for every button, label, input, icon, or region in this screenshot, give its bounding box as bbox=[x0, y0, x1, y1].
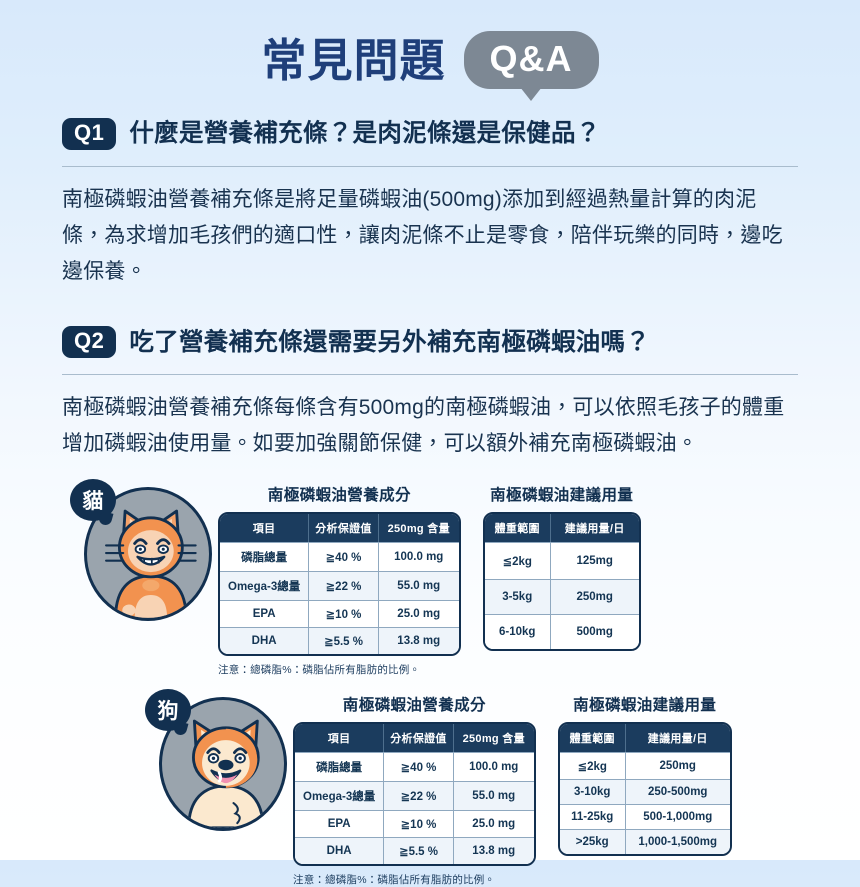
cell-spec: ≧22 % bbox=[384, 781, 454, 810]
faq-item-q2: Q2 吃了營養補充條還需要另外補充南極磷蝦油嗎？ 南極磷蝦油營養補充條每條含有5… bbox=[62, 326, 798, 462]
column-header: 體重範圍 bbox=[485, 514, 551, 542]
column-header: 項目 bbox=[220, 514, 309, 542]
dog-nutrition-table: 項目 分析保證值 250mg 含量 磷脂總量 ≧40 % 100.0 mg Om… bbox=[293, 722, 536, 866]
cell-amount: 13.8 mg bbox=[454, 837, 534, 864]
cell-item: DHA bbox=[295, 837, 384, 864]
question-number-badge: Q2 bbox=[62, 326, 116, 358]
cell-spec: ≧40 % bbox=[384, 752, 454, 781]
cell-amount: 55.0 mg bbox=[454, 781, 534, 810]
page-header: 常見問題 Q&A bbox=[0, 0, 860, 96]
cat-dosage-title: 南極磷蝦油建議用量 bbox=[483, 483, 641, 505]
table-row: 11-25kg 500-1,000mg bbox=[560, 804, 730, 829]
question-divider bbox=[62, 166, 798, 167]
cell-weight: >25kg bbox=[560, 829, 626, 854]
table-header-row: 項目 分析保證值 250mg 含量 bbox=[220, 514, 459, 542]
cell-dose: 250-500mg bbox=[626, 779, 730, 804]
question-text: 什麼是營養補充條？是肉泥條還是保健品？ bbox=[129, 119, 600, 148]
table-header-row: 體重範圍 建議用量/日 bbox=[560, 724, 730, 752]
table-row: EPA ≧10 % 25.0 mg bbox=[220, 600, 459, 627]
column-header: 項目 bbox=[295, 724, 384, 752]
column-header: 建議用量/日 bbox=[626, 724, 730, 752]
cell-amount: 100.0 mg bbox=[454, 752, 534, 781]
dog-nutrition-title: 南極磷蝦油營養成分 bbox=[293, 693, 536, 715]
cell-weight: 11-25kg bbox=[560, 804, 626, 829]
cell-dose: 500-1,000mg bbox=[626, 804, 730, 829]
table-row: ≦2kg 125mg bbox=[485, 542, 639, 579]
column-header: 分析保證值 bbox=[384, 724, 454, 752]
cell-item: DHA bbox=[220, 627, 309, 654]
cell-item: EPA bbox=[220, 600, 309, 627]
question-row[interactable]: Q1 什麼是營養補充條？是肉泥條還是保健品？ bbox=[62, 118, 798, 150]
table-row: Omega-3總量 ≧22 % 55.0 mg bbox=[220, 571, 459, 600]
cat-dosage-table: 體重範圍 建議用量/日 ≦2kg 125mg 3-5kg 250mg bbox=[483, 512, 641, 651]
answer-text: 南極磷蝦油營養補充條是將足量磷蝦油(500mg)添加到經過熱量計算的肉泥條，為求… bbox=[62, 182, 798, 290]
column-header: 體重範圍 bbox=[560, 724, 626, 752]
cat-nutrition-table: 項目 分析保證值 250mg 含量 磷脂總量 ≧40 % 100.0 mg Om… bbox=[218, 512, 461, 656]
pet-type-badge-dog: 狗 bbox=[145, 689, 191, 731]
question-divider bbox=[62, 374, 798, 375]
dog-avatar: 狗 bbox=[145, 687, 293, 839]
cell-weight: 3-10kg bbox=[560, 779, 626, 804]
cell-item: Omega-3總量 bbox=[295, 781, 384, 810]
cell-item: 磷脂總量 bbox=[220, 542, 309, 571]
table-row: 磷脂總量 ≧40 % 100.0 mg bbox=[220, 542, 459, 571]
cell-amount: 25.0 mg bbox=[454, 810, 534, 837]
cell-amount: 55.0 mg bbox=[379, 571, 459, 600]
column-header: 建議用量/日 bbox=[551, 514, 639, 542]
faq-page: 常見問題 Q&A Q1 什麼是營養補充條？是肉泥條還是保健品？ 南極磷蝦油營養補… bbox=[0, 0, 860, 860]
cat-nutrition-title: 南極磷蝦油營養成分 bbox=[218, 483, 461, 505]
cell-dose: 500mg bbox=[551, 614, 639, 649]
column-header: 250mg 含量 bbox=[454, 724, 534, 752]
cell-spec: ≧5.5 % bbox=[309, 627, 379, 654]
dog-dosage-title: 南極磷蝦油建議用量 bbox=[558, 693, 732, 715]
column-header: 分析保證值 bbox=[309, 514, 379, 542]
table-header-row: 體重範圍 建議用量/日 bbox=[485, 514, 639, 542]
cell-dose: 250mg bbox=[551, 579, 639, 614]
pet-section-cat: 貓 南極磷蝦油營養成分 項目 分析保證值 250mg 含量 bbox=[0, 477, 860, 677]
dog-nutrition-block: 南極磷蝦油營養成分 項目 分析保證值 250mg 含量 磷脂總量 ≧40 % bbox=[293, 693, 536, 887]
table-row: 6-10kg 500mg bbox=[485, 614, 639, 649]
question-text: 吃了營養補充條還需要另外補充南極磷蝦油嗎？ bbox=[129, 328, 650, 357]
cat-nutrition-block: 南極磷蝦油營養成分 項目 分析保證值 250mg 含量 磷脂總量 ≧40 % bbox=[218, 483, 461, 677]
cat-nutrition-note: 注意：總磷脂%：磷脂佔所有脂肪的比例。 bbox=[218, 662, 461, 677]
pet-section-dog: 狗 南極磷蝦油營養成分 項目 分析保證值 250mg 含量 bbox=[0, 687, 860, 887]
cell-spec: ≧5.5 % bbox=[384, 837, 454, 864]
faq-item-q1: Q1 什麼是營養補充條？是肉泥條還是保健品？ 南極磷蝦油營養補充條是將足量磷蝦油… bbox=[62, 118, 798, 290]
cell-dose: 1,000-1,500mg bbox=[626, 829, 730, 854]
cell-weight: ≦2kg bbox=[485, 542, 551, 579]
cell-weight: 6-10kg bbox=[485, 614, 551, 649]
cat-avatar: 貓 bbox=[70, 477, 218, 629]
cell-dose: 125mg bbox=[551, 542, 639, 579]
cell-weight: ≦2kg bbox=[560, 752, 626, 779]
answer-text: 南極磷蝦油營養補充條每條含有500mg的南極磷蝦油，可以依照毛孩子的體重增加磷蝦… bbox=[62, 390, 798, 462]
cell-weight: 3-5kg bbox=[485, 579, 551, 614]
dog-dosage-table: 體重範圍 建議用量/日 ≦2kg 250mg 3-10kg 250-500mg bbox=[558, 722, 732, 856]
question-row[interactable]: Q2 吃了營養補充條還需要另外補充南極磷蝦油嗎？ bbox=[62, 326, 798, 358]
dog-dosage-block: 南極磷蝦油建議用量 體重範圍 建議用量/日 ≦2kg 250mg bbox=[558, 693, 732, 856]
table-row: 磷脂總量 ≧40 % 100.0 mg bbox=[295, 752, 534, 781]
cell-dose: 250mg bbox=[626, 752, 730, 779]
cell-amount: 25.0 mg bbox=[379, 600, 459, 627]
dog-nutrition-note: 注意：總磷脂%：磷脂佔所有脂肪的比例。 bbox=[293, 872, 536, 887]
cell-spec: ≧10 % bbox=[309, 600, 379, 627]
table-row: >25kg 1,000-1,500mg bbox=[560, 829, 730, 854]
question-number-badge: Q1 bbox=[62, 118, 116, 150]
cell-item: EPA bbox=[295, 810, 384, 837]
cell-amount: 13.8 mg bbox=[379, 627, 459, 654]
table-row: Omega-3總量 ≧22 % 55.0 mg bbox=[295, 781, 534, 810]
cell-spec: ≧40 % bbox=[309, 542, 379, 571]
faq-list: Q1 什麼是營養補充條？是肉泥條還是保健品？ 南極磷蝦油營養補充條是將足量磷蝦油… bbox=[0, 118, 860, 463]
cell-item: Omega-3總量 bbox=[220, 571, 309, 600]
table-header-row: 項目 分析保證值 250mg 含量 bbox=[295, 724, 534, 752]
table-row: 3-5kg 250mg bbox=[485, 579, 639, 614]
table-row: EPA ≧10 % 25.0 mg bbox=[295, 810, 534, 837]
qa-badge-bubble: Q&A bbox=[464, 31, 599, 89]
qa-badge-label: Q&A bbox=[490, 38, 573, 79]
cat-tables: 南極磷蝦油營養成分 項目 分析保證值 250mg 含量 磷脂總量 ≧40 % bbox=[218, 477, 641, 677]
page-title: 常見問題 bbox=[261, 38, 445, 83]
cell-amount: 100.0 mg bbox=[379, 542, 459, 571]
table-row: DHA ≧5.5 % 13.8 mg bbox=[295, 837, 534, 864]
cell-spec: ≧10 % bbox=[384, 810, 454, 837]
pet-type-badge-cat: 貓 bbox=[70, 479, 116, 521]
dog-tables: 南極磷蝦油營養成分 項目 分析保證值 250mg 含量 磷脂總量 ≧40 % bbox=[293, 687, 732, 887]
cell-spec: ≧22 % bbox=[309, 571, 379, 600]
table-row: 3-10kg 250-500mg bbox=[560, 779, 730, 804]
table-row: ≦2kg 250mg bbox=[560, 752, 730, 779]
cat-dosage-block: 南極磷蝦油建議用量 體重範圍 建議用量/日 ≦2kg 125mg bbox=[483, 483, 641, 651]
cell-item: 磷脂總量 bbox=[295, 752, 384, 781]
table-row: DHA ≧5.5 % 13.8 mg bbox=[220, 627, 459, 654]
column-header: 250mg 含量 bbox=[379, 514, 459, 542]
